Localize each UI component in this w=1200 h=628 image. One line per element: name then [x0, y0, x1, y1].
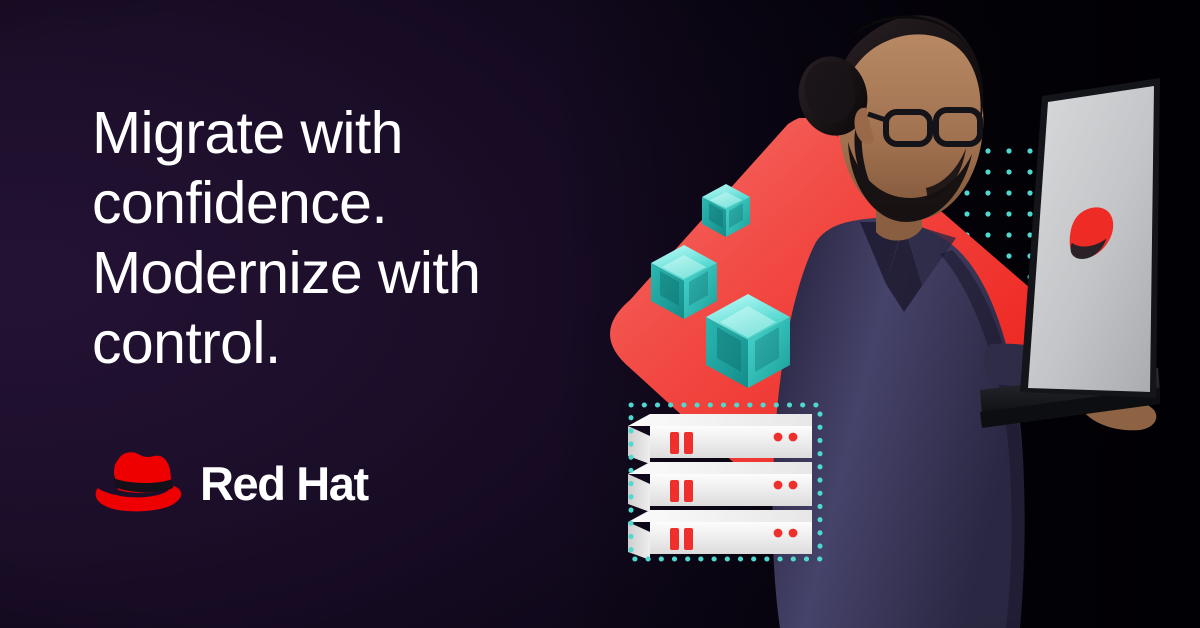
- teal-dotted-outline: [628, 402, 823, 562]
- red-hat-wordmark: Red Hat: [200, 460, 368, 507]
- hero-artwork: [540, 0, 1200, 628]
- teal-cube-small: [700, 182, 752, 240]
- red-hat-fedora-icon: [92, 448, 184, 516]
- red-hat-logo-lockup[interactable]: Red Hat: [92, 448, 368, 516]
- page-headline: Migrate with confidence. Modernize with …: [92, 98, 562, 378]
- teal-cube-large: [702, 290, 794, 392]
- banner-canvas: Migrate with confidence. Modernize with …: [0, 0, 1200, 628]
